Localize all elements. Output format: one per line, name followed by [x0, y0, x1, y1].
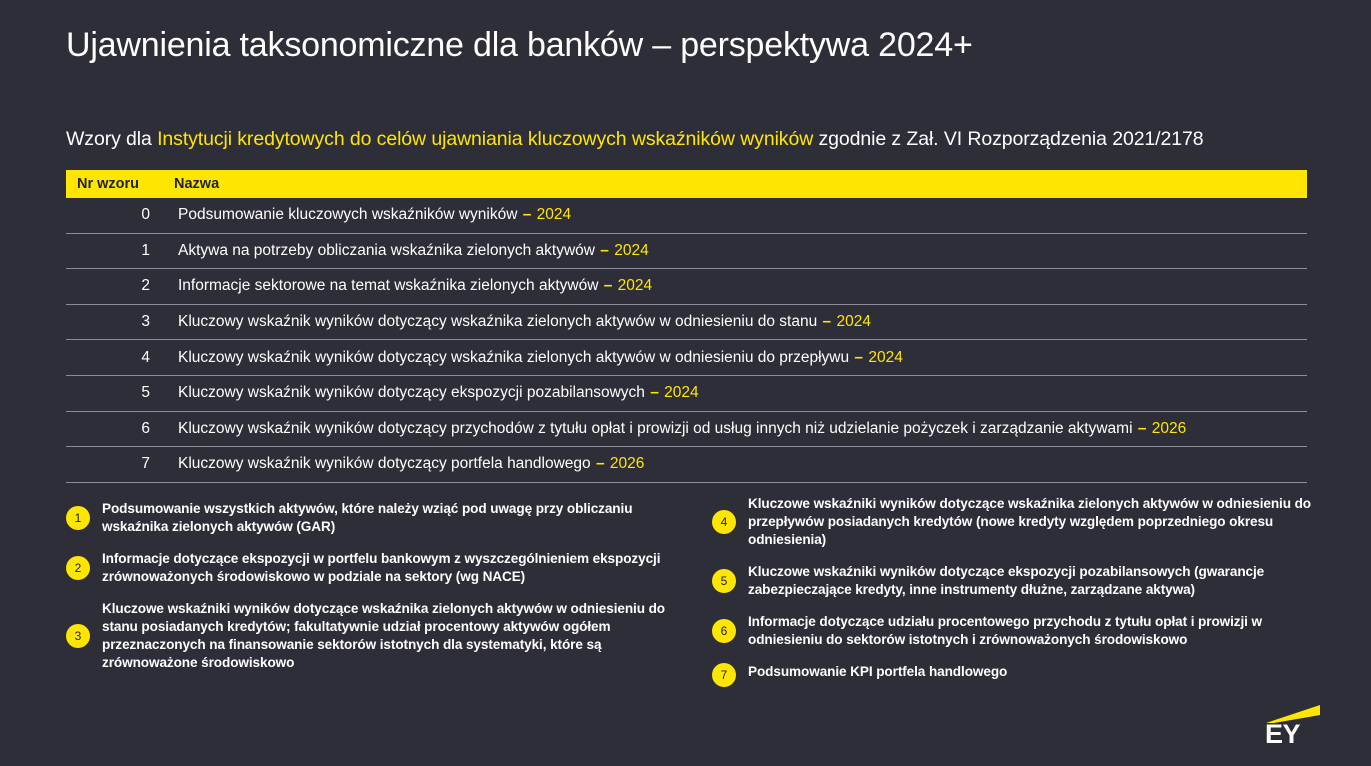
row-dash: – — [603, 277, 614, 294]
table-row: 0Podsumowanie kluczowych wskaźników wyni… — [66, 198, 1307, 234]
row-name-label: Kluczowy wskaźnik wyników dotyczący eksp… — [178, 384, 645, 401]
note-text: Podsumowanie wszystkich aktywów, które n… — [102, 500, 686, 536]
row-name: Kluczowy wskaźnik wyników dotyczący eksp… — [152, 384, 699, 402]
row-dash: – — [599, 242, 610, 259]
table-row: 7Kluczowy wskaźnik wyników dotyczący por… — [66, 447, 1307, 483]
row-name: Podsumowanie kluczowych wskaźników wynik… — [152, 206, 571, 224]
note-item: 7Podsumowanie KPI portfela handlowego — [712, 663, 1312, 687]
row-name-label: Informacje sektorowe na temat wskaźnika … — [178, 277, 598, 294]
slide-canvas: Ujawnienia taksonomiczne dla banków – pe… — [0, 0, 1371, 766]
table-row: 5Kluczowy wskaźnik wyników dotyczący eks… — [66, 376, 1307, 412]
row-number: 3 — [66, 313, 152, 331]
row-name: Kluczowy wskaźnik wyników dotyczący wska… — [152, 313, 871, 331]
row-year: 2026 — [1152, 420, 1186, 437]
note-badge: 3 — [66, 624, 90, 648]
subtitle-highlight: Instytucji kredytowych do celów ujawnian… — [157, 128, 813, 150]
row-dash: – — [595, 455, 606, 472]
ey-wordmark: EY — [1265, 721, 1300, 748]
row-dash: – — [649, 384, 660, 401]
row-name: Informacje sektorowe na temat wskaźnika … — [152, 277, 652, 295]
note-item: 1Podsumowanie wszystkich aktywów, które … — [66, 500, 686, 536]
row-dash: – — [822, 313, 833, 330]
column-header-number: Nr wzoru — [66, 176, 152, 192]
note-item: 3Kluczowe wskaźniki wyników dotyczące ws… — [66, 600, 686, 672]
row-dash: – — [853, 349, 864, 366]
row-name-label: Kluczowy wskaźnik wyników dotyczący port… — [178, 455, 591, 472]
row-dash: – — [522, 206, 533, 223]
note-badge: 6 — [712, 619, 736, 643]
table-row: 6Kluczowy wskaźnik wyników dotyczący prz… — [66, 412, 1307, 448]
row-number: 0 — [66, 206, 152, 224]
notes-column-left: 1Podsumowanie wszystkich aktywów, które … — [66, 500, 686, 686]
table-body: 0Podsumowanie kluczowych wskaźników wyni… — [66, 198, 1307, 483]
note-text: Informacje dotyczące udziału procentoweg… — [748, 613, 1312, 649]
page-title: Ujawnienia taksonomiczne dla banków – pe… — [66, 26, 973, 65]
note-badge: 7 — [712, 663, 736, 687]
row-year: 2024 — [618, 277, 652, 294]
notes-column-right: 4Kluczowe wskaźniki wyników dotyczące ws… — [712, 495, 1312, 701]
note-item: 6Informacje dotyczące udziału procentowe… — [712, 613, 1312, 649]
row-name-label: Podsumowanie kluczowych wskaźników wynik… — [178, 206, 517, 223]
note-text: Kluczowe wskaźniki wyników dotyczące wsk… — [748, 495, 1312, 549]
note-text: Kluczowe wskaźniki wyników dotyczące eks… — [748, 563, 1312, 599]
row-name: Aktywa na potrzeby obliczania wskaźnika … — [152, 242, 649, 260]
note-badge: 2 — [66, 556, 90, 580]
row-dash: – — [1137, 420, 1148, 437]
row-name: Kluczowy wskaźnik wyników dotyczący port… — [152, 455, 644, 473]
row-name-label: Kluczowy wskaźnik wyników dotyczący wska… — [178, 349, 849, 366]
note-badge: 1 — [66, 506, 90, 530]
row-number: 4 — [66, 349, 152, 367]
subtitle-prefix: Wzory dla — [66, 128, 157, 150]
subtitle-suffix: zgodnie z Zał. VI Rozporządzenia 2021/21… — [813, 128, 1203, 150]
note-item: 4Kluczowe wskaźniki wyników dotyczące ws… — [712, 495, 1312, 549]
ey-logo: EY — [1262, 703, 1324, 753]
subtitle: Wzory dla Instytucji kredytowych do celó… — [66, 128, 1203, 151]
row-year: 2024 — [836, 313, 870, 330]
row-year: 2026 — [610, 455, 644, 472]
table-row: 3Kluczowy wskaźnik wyników dotyczący wsk… — [66, 305, 1307, 341]
row-year: 2024 — [664, 384, 698, 401]
row-number: 5 — [66, 384, 152, 402]
row-name: Kluczowy wskaźnik wyników dotyczący przy… — [152, 420, 1186, 438]
column-header-name: Nazwa — [152, 176, 219, 192]
row-year: 2024 — [537, 206, 571, 223]
note-item: 2Informacje dotyczące ekspozycji w portf… — [66, 550, 686, 586]
table-row: 4Kluczowy wskaźnik wyników dotyczący wsk… — [66, 340, 1307, 376]
row-year: 2024 — [614, 242, 648, 259]
note-text: Podsumowanie KPI portfela handlowego — [748, 663, 1007, 681]
note-item: 5Kluczowe wskaźniki wyników dotyczące ek… — [712, 563, 1312, 599]
row-name-label: Kluczowy wskaźnik wyników dotyczący przy… — [178, 420, 1133, 437]
row-name-label: Kluczowy wskaźnik wyników dotyczący wska… — [178, 313, 817, 330]
row-name-label: Aktywa na potrzeby obliczania wskaźnika … — [178, 242, 595, 259]
note-badge: 4 — [712, 510, 736, 534]
row-number: 2 — [66, 277, 152, 295]
table-row: 2Informacje sektorowe na temat wskaźnika… — [66, 269, 1307, 305]
row-number: 1 — [66, 242, 152, 260]
note-text: Informacje dotyczące ekspozycji w portfe… — [102, 550, 686, 586]
templates-table: Nr wzoru Nazwa 0Podsumowanie kluczowych … — [66, 170, 1307, 483]
table-header-row: Nr wzoru Nazwa — [66, 170, 1307, 198]
row-number: 6 — [66, 420, 152, 438]
note-text: Kluczowe wskaźniki wyników dotyczące wsk… — [102, 600, 686, 672]
row-number: 7 — [66, 455, 152, 473]
note-badge: 5 — [712, 569, 736, 593]
table-row: 1Aktywa na potrzeby obliczania wskaźnika… — [66, 234, 1307, 270]
row-year: 2024 — [868, 349, 902, 366]
row-name: Kluczowy wskaźnik wyników dotyczący wska… — [152, 349, 903, 367]
